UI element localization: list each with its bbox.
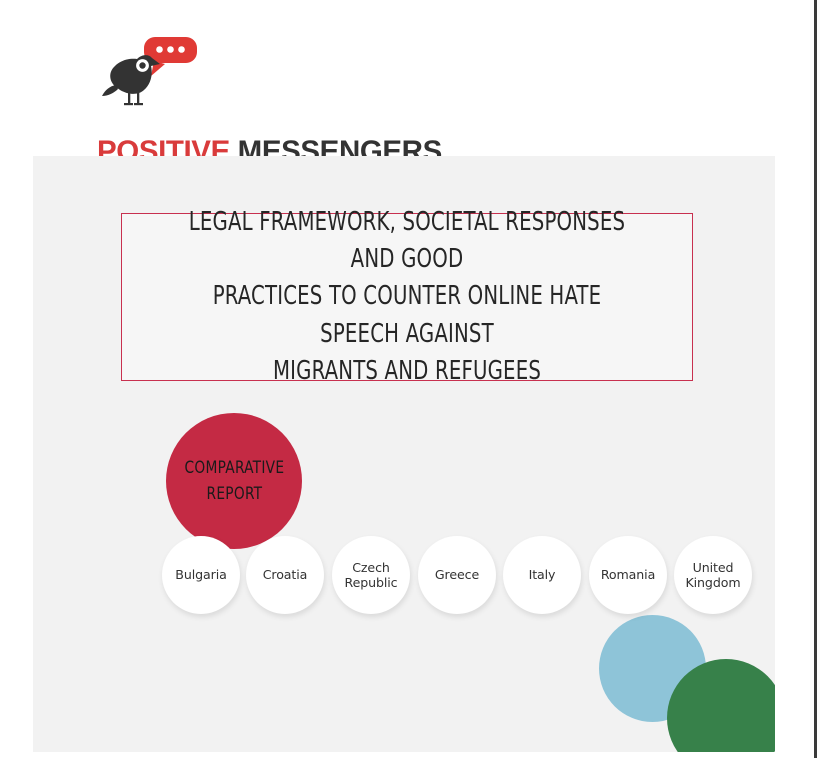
country-label: Greece: [435, 567, 479, 582]
country-circle: Greece: [418, 536, 496, 614]
country-label: Romania: [601, 567, 655, 582]
comparative-report-badge: COMPARATIVE REPORT: [166, 413, 302, 549]
country-label: Italy: [529, 567, 556, 582]
country-circle: Croatia: [246, 536, 324, 614]
country-circle: Italy: [503, 536, 581, 614]
country-circle: Czech Republic: [332, 536, 410, 614]
country-label: Czech Republic: [344, 560, 397, 591]
brand-header: POSITIVE MESSENGERS: [97, 34, 517, 144]
report-title-box: LEGAL FRAMEWORK, SOCIETAL RESPONSES AND …: [121, 213, 693, 381]
bird-with-speech-bubble-logo-icon: [97, 34, 207, 112]
country-label: United Kingdom: [685, 560, 740, 591]
country-label: Bulgaria: [175, 567, 226, 582]
country-circle-row: BulgariaCroatiaCzech RepublicGreeceItaly…: [129, 536, 759, 626]
country-label: Croatia: [263, 567, 308, 582]
report-title: LEGAL FRAMEWORK, SOCIETAL RESPONSES AND …: [162, 204, 652, 390]
comparative-report-label: COMPARATIVE REPORT: [184, 455, 284, 508]
country-circle: Romania: [589, 536, 667, 614]
country-circle: United Kingdom: [674, 536, 752, 614]
country-circle: Bulgaria: [162, 536, 240, 614]
content-panel: LEGAL FRAMEWORK, SOCIETAL RESPONSES AND …: [33, 156, 775, 752]
